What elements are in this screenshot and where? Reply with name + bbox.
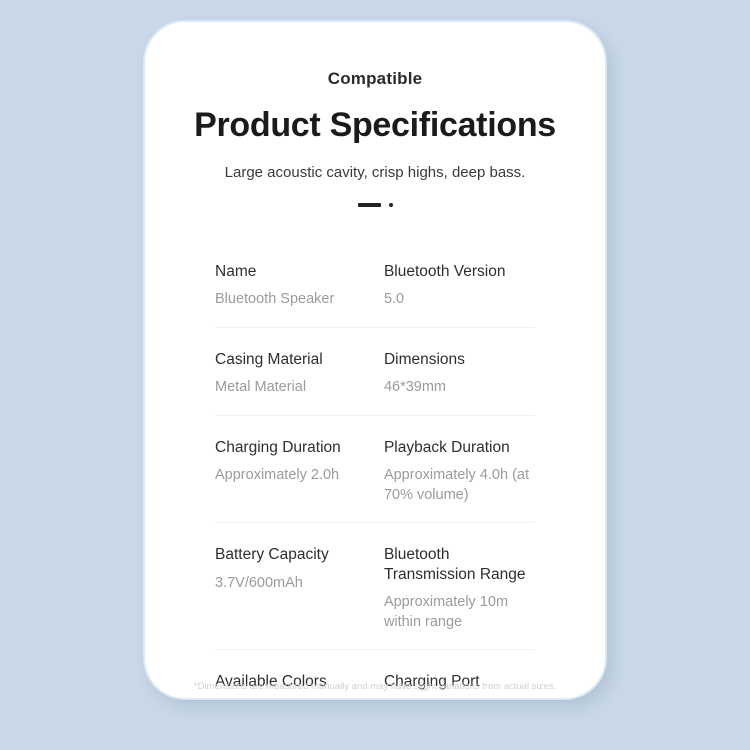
subtitle-text: Large acoustic cavity, crisp highs, deep… bbox=[145, 165, 605, 180]
spec-value: 5.0 bbox=[384, 290, 539, 310]
spec-value: 3.7V/600mAh bbox=[215, 574, 374, 594]
spec-value: Approximately 10m within range bbox=[384, 593, 539, 632]
row-spacer bbox=[215, 523, 539, 545]
footnote-text: *Dimensions are measured manually and ma… bbox=[145, 682, 605, 692]
specifications-table: Name Bluetooth Speaker Bluetooth Version… bbox=[215, 262, 539, 700]
spec-value: Bluetooth Speaker bbox=[215, 290, 374, 310]
spec-value: Approximately 4.0h (at 70% volume) bbox=[384, 466, 539, 505]
spec-value: 46*39mm bbox=[384, 378, 539, 398]
table-row: Name Bluetooth Speaker Bluetooth Version… bbox=[215, 262, 539, 328]
spec-label: Name bbox=[215, 262, 374, 281]
spec-cell-battery-capacity: Battery Capacity 3.7V/600mAh bbox=[215, 545, 384, 650]
spec-label: Charging Duration bbox=[215, 438, 374, 457]
spec-cell-playback-duration: Playback Duration Approximately 4.0h (at… bbox=[384, 438, 539, 524]
spec-label: Dimensions bbox=[384, 350, 539, 369]
ornament-divider bbox=[145, 200, 605, 210]
spec-cell-bluetooth-range: Bluetooth Transmission Range Approximate… bbox=[384, 545, 539, 650]
row-spacer bbox=[215, 650, 539, 672]
page-title: Product Specifications bbox=[145, 108, 605, 142]
row-spacer bbox=[215, 416, 539, 438]
table-row: Charging Duration Approximately 2.0h Pla… bbox=[215, 438, 539, 524]
spec-cell-bluetooth-version: Bluetooth Version 5.0 bbox=[384, 262, 539, 328]
spec-label: Casing Material bbox=[215, 350, 374, 369]
spec-cell-dimensions: Dimensions 46*39mm bbox=[384, 350, 539, 416]
spec-value: Metal Material bbox=[215, 378, 374, 398]
spec-label: Bluetooth Version bbox=[384, 262, 539, 281]
eyebrow-label: Compatible bbox=[145, 70, 605, 87]
table-row: Casing Material Metal Material Dimension… bbox=[215, 350, 539, 416]
spec-cell-charging-duration: Charging Duration Approximately 2.0h bbox=[215, 438, 384, 524]
table-row: Battery Capacity 3.7V/600mAh Bluetooth T… bbox=[215, 545, 539, 650]
spec-cell-casing-material: Casing Material Metal Material bbox=[215, 350, 384, 416]
ornament-dot-icon bbox=[389, 203, 393, 207]
page-root: Compatible Product Specifications Large … bbox=[0, 0, 750, 750]
spec-value: Approximately 2.0h bbox=[215, 466, 374, 486]
spec-label: Playback Duration bbox=[384, 438, 539, 457]
product-spec-card: Compatible Product Specifications Large … bbox=[143, 20, 607, 700]
row-spacer bbox=[215, 328, 539, 350]
spec-label: Bluetooth Transmission Range bbox=[384, 545, 539, 584]
card-header: Compatible Product Specifications Large … bbox=[145, 22, 605, 210]
ornament-bar-icon bbox=[358, 203, 381, 207]
spec-label: Battery Capacity bbox=[215, 545, 374, 564]
spec-cell-name: Name Bluetooth Speaker bbox=[215, 262, 384, 328]
